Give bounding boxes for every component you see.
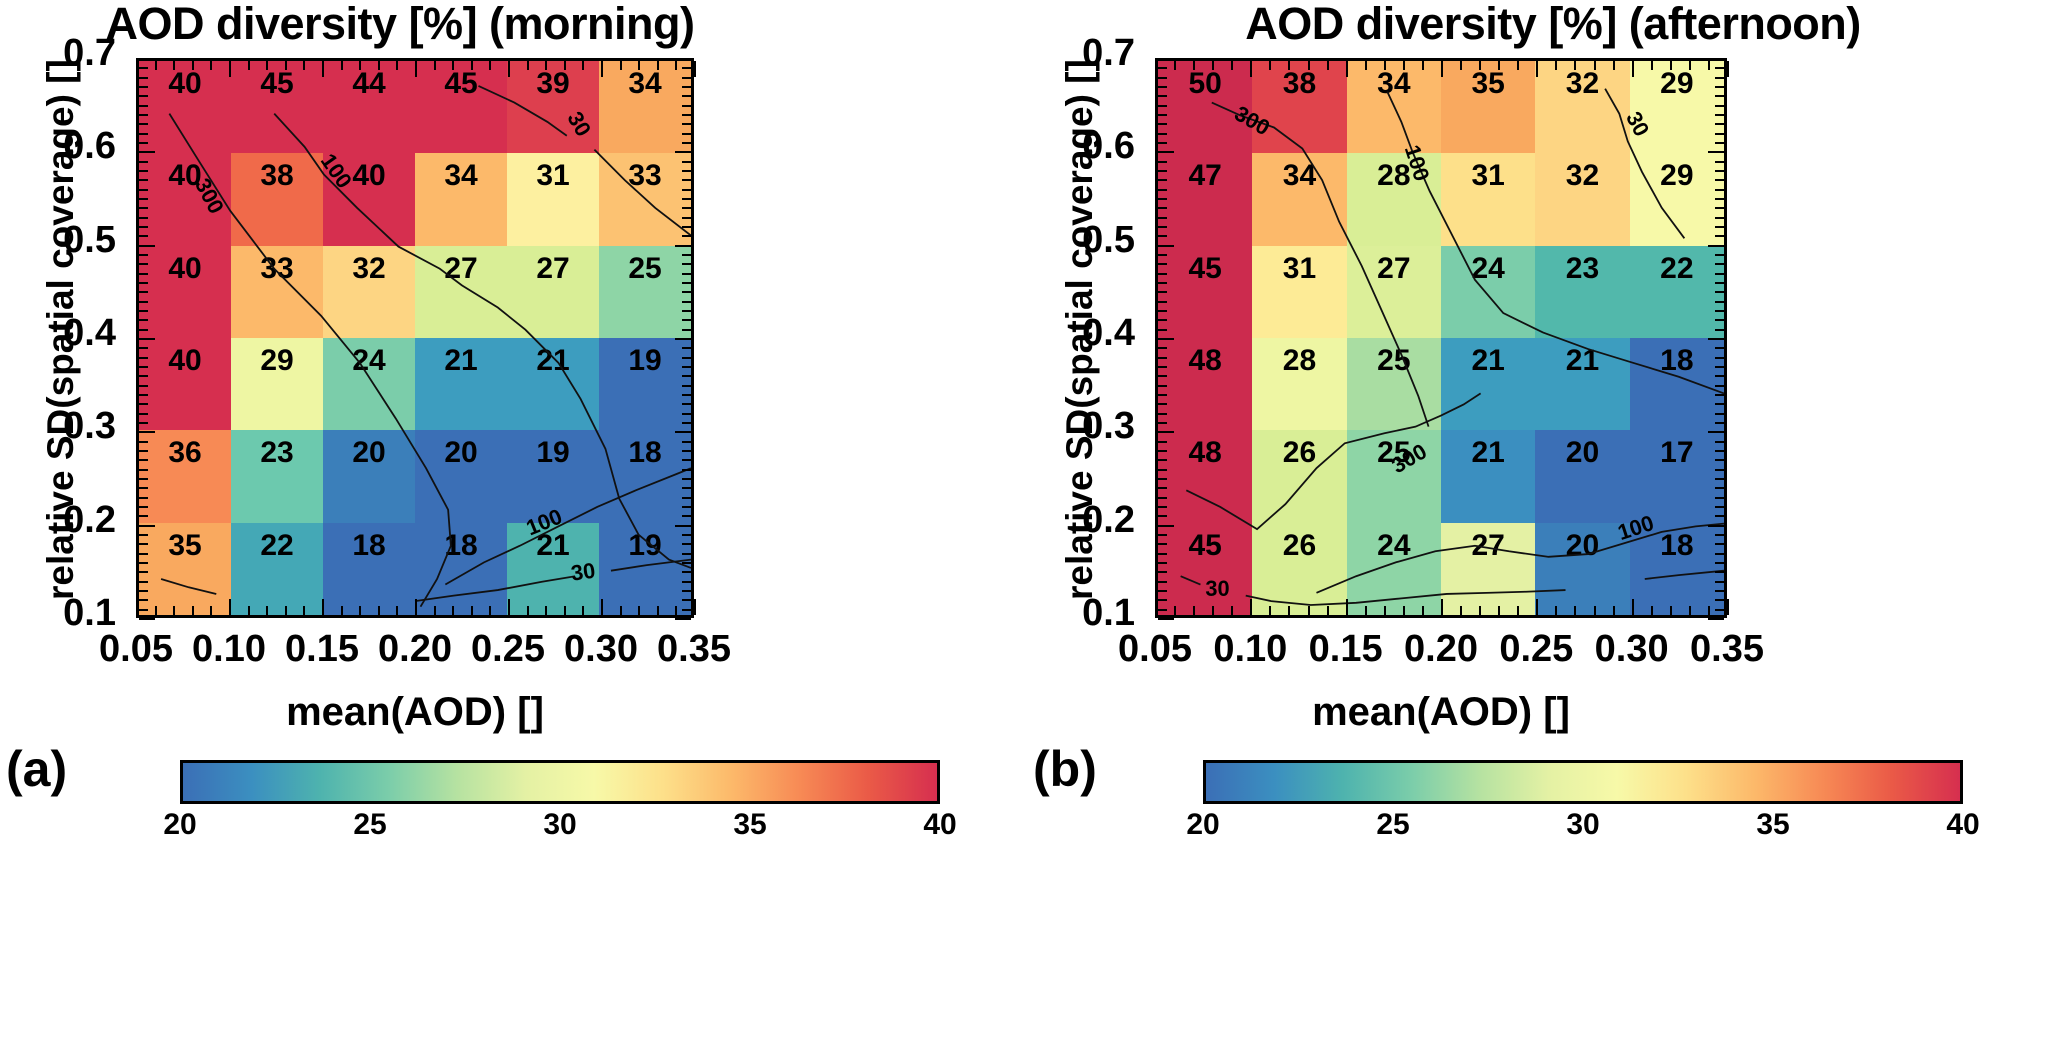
heatmap-cell: 27 xyxy=(415,246,507,338)
x-tickmark xyxy=(229,61,231,77)
heatmap-cell: 48 xyxy=(1158,338,1252,430)
heatmap-cell: 34 xyxy=(415,153,507,245)
heatmap-cell-value: 45 xyxy=(231,67,323,101)
x-tickmark xyxy=(1613,61,1615,70)
y-tickmark xyxy=(139,151,155,153)
y-tickmark xyxy=(682,375,691,377)
heatmap-cell-value: 40 xyxy=(139,159,231,193)
heatmap-cell: 24 xyxy=(1347,523,1441,615)
y-tickmark xyxy=(682,487,691,489)
y-tickmark xyxy=(139,310,148,312)
x-tickmark xyxy=(1193,61,1195,70)
x-tickmark xyxy=(1689,61,1691,70)
heatmap-cell-value: 40 xyxy=(139,344,231,378)
y-tickmark xyxy=(1715,254,1724,256)
x-tickmark xyxy=(1536,599,1538,615)
y-tickmark xyxy=(1715,422,1724,424)
heatmap-cell: 21 xyxy=(1441,338,1535,430)
y-tickmark xyxy=(139,431,155,433)
x-tickmark xyxy=(1651,61,1653,70)
y-tickmark xyxy=(139,590,148,592)
heatmap-cell-value: 23 xyxy=(231,436,323,470)
y-tickmark xyxy=(682,441,691,443)
y-tickmark xyxy=(682,291,691,293)
x-tickmark xyxy=(601,61,603,77)
heatmap-cell: 20 xyxy=(1535,523,1629,615)
y-tickmark xyxy=(1158,58,1174,60)
x-tick-label: 0.30 xyxy=(564,628,638,671)
x-tickmark xyxy=(415,61,417,77)
x-tickmark xyxy=(1403,606,1405,615)
x-tickmark xyxy=(1708,61,1710,70)
heatmap-cell-value: 34 xyxy=(1347,67,1441,101)
x-tick-label: 0.35 xyxy=(1690,628,1764,671)
y-tickmark xyxy=(139,543,148,545)
y-tickmark xyxy=(682,123,691,125)
x-tickmark xyxy=(1212,606,1214,615)
y-tickmark xyxy=(675,245,691,247)
y-tickmark xyxy=(1158,413,1167,415)
y-tickmark xyxy=(1158,581,1167,583)
heatmap-cell-value: 45 xyxy=(415,67,507,101)
x-tickmark xyxy=(694,61,696,77)
y-tickmark xyxy=(682,469,691,471)
heatmap-cell: 48 xyxy=(1158,430,1252,522)
colorbar-tick-label: 30 xyxy=(543,808,576,842)
x-tickmark xyxy=(1384,606,1386,615)
y-tickmark xyxy=(1158,254,1167,256)
y-tickmark xyxy=(682,301,691,303)
y-tickmark xyxy=(1158,189,1167,191)
heatmap-cell-value: 40 xyxy=(139,252,231,286)
y-tickmark xyxy=(139,291,148,293)
x-tickmark xyxy=(471,61,473,70)
y-tickmark xyxy=(1715,301,1724,303)
x-tick-label: 0.05 xyxy=(1118,628,1192,671)
x-tickmark xyxy=(1555,606,1557,615)
y-tickmark xyxy=(682,198,691,200)
x-tickmark xyxy=(359,61,361,70)
y-tickmark xyxy=(682,273,691,275)
heatmap-cell-value: 29 xyxy=(231,344,323,378)
heatmap-cell: 45 xyxy=(415,61,507,153)
y-tickmark xyxy=(1158,366,1167,368)
x-tick-label: 0.10 xyxy=(192,628,266,671)
colorbar-afternoon: 2025303540 xyxy=(1203,760,1963,860)
heatmap-cell-value: 39 xyxy=(507,67,599,101)
heatmap-cell: 32 xyxy=(1535,153,1629,245)
panel-afternoon: AOD diversity [%] (afternoon) 5038343532… xyxy=(1033,0,2067,1043)
heatmap-cell-value: 28 xyxy=(1347,159,1441,193)
x-tickmark xyxy=(1384,61,1386,70)
heatmap-grid-morning: 4045444539344038403431334033322727254029… xyxy=(139,61,691,615)
x-tickmark xyxy=(1365,606,1367,615)
y-tickmark xyxy=(682,77,691,79)
y-tickmark xyxy=(139,319,148,321)
x-tickmark xyxy=(1288,61,1290,70)
y-tickmark xyxy=(1158,534,1167,536)
colorbar-gradient-morning xyxy=(180,760,940,804)
y-tickmark xyxy=(1708,618,1724,620)
x-tickmark xyxy=(508,599,510,615)
panel-letter-a: (a) xyxy=(6,740,67,798)
x-tick-label: 0.15 xyxy=(1309,628,1383,671)
y-tickmark xyxy=(682,366,691,368)
x-tickmark xyxy=(1403,61,1405,70)
y-axis-label-morning: relative SD(spatial coverage) [] xyxy=(40,59,82,600)
y-tickmark xyxy=(139,450,148,452)
heatmap-cell-value: 25 xyxy=(599,252,691,286)
y-tickmark xyxy=(139,338,155,340)
heatmap-cell-value: 22 xyxy=(231,529,323,563)
heatmap-cell-value: 48 xyxy=(1158,436,1252,470)
x-tick-label: 0.25 xyxy=(471,628,545,671)
heatmap-cell: 35 xyxy=(1441,61,1535,153)
heatmap-cell: 26 xyxy=(1252,523,1346,615)
x-tickmark xyxy=(564,606,566,615)
panel-morning: AOD diversity [%] (morning) 404544453934… xyxy=(0,0,1033,1043)
y-tickmark xyxy=(139,357,148,359)
x-tickmark xyxy=(1269,61,1271,70)
heatmap-cell-value: 33 xyxy=(231,252,323,286)
heatmap-cell: 40 xyxy=(323,153,415,245)
y-tickmark xyxy=(1715,77,1724,79)
x-tickmark xyxy=(322,599,324,615)
y-tickmark xyxy=(1715,459,1724,461)
x-tickmark xyxy=(1498,606,1500,615)
y-tickmark xyxy=(139,301,148,303)
y-tickmark xyxy=(682,67,691,69)
y-tickmark xyxy=(682,226,691,228)
x-tickmark xyxy=(545,61,547,70)
x-tickmark xyxy=(173,61,175,70)
heatmap-cell-value: 34 xyxy=(415,159,507,193)
heatmap-cell-value: 21 xyxy=(1441,436,1535,470)
y-tickmark xyxy=(1715,319,1724,321)
y-tickmark xyxy=(682,478,691,480)
x-tickmark xyxy=(582,606,584,615)
y-tickmark xyxy=(682,543,691,545)
x-tickmark xyxy=(1670,61,1672,70)
y-tickmark xyxy=(682,95,691,97)
x-tickmark xyxy=(471,606,473,615)
heatmap-cell: 33 xyxy=(599,153,691,245)
heatmap-cell: 19 xyxy=(599,523,691,615)
y-tickmark xyxy=(1715,123,1724,125)
x-tick-label: 0.25 xyxy=(1499,628,1573,671)
y-tickmark xyxy=(139,235,148,237)
heatmap-cell: 28 xyxy=(1252,338,1346,430)
heatmap-cell: 18 xyxy=(415,523,507,615)
heatmap-cell-value: 27 xyxy=(1347,252,1441,286)
heatmap-plot-afternoon: 5038343532294734283132294531272423224828… xyxy=(1155,58,1727,618)
heatmap-cell: 47 xyxy=(1158,153,1252,245)
x-tickmark xyxy=(1574,61,1576,70)
x-tickmark xyxy=(1346,61,1348,77)
y-tickmark xyxy=(1715,357,1724,359)
x-tickmark xyxy=(545,606,547,615)
y-tickmark xyxy=(139,226,148,228)
y-tickmark xyxy=(682,310,691,312)
y-tickmark xyxy=(139,618,155,620)
y-tickmark xyxy=(682,571,691,573)
heatmap-cell-value: 40 xyxy=(139,67,231,101)
y-tickmark xyxy=(682,133,691,135)
y-tickmark xyxy=(1715,235,1724,237)
heatmap-cell: 25 xyxy=(1347,430,1441,522)
heatmap-cell-value: 21 xyxy=(415,344,507,378)
heatmap-cell-value: 27 xyxy=(415,252,507,286)
heatmap-cell-value: 27 xyxy=(507,252,599,286)
heatmap-cell-value: 18 xyxy=(1630,529,1724,563)
heatmap-cell: 22 xyxy=(231,523,323,615)
heatmap-cell-value: 38 xyxy=(231,159,323,193)
y-tickmark xyxy=(139,329,148,331)
heatmap-cell-value: 17 xyxy=(1630,436,1724,470)
x-tickmark xyxy=(1231,61,1233,70)
y-tickmark xyxy=(139,198,148,200)
x-axis-ticks-morning: 0.050.100.150.200.250.300.35 xyxy=(136,628,694,676)
heatmap-cell-value: 34 xyxy=(599,67,691,101)
y-tickmark xyxy=(139,441,148,443)
y-tickmark xyxy=(682,86,691,88)
heatmap-cell: 17 xyxy=(1630,430,1724,522)
y-tickmark xyxy=(1715,329,1724,331)
colorbar-tick-label: 25 xyxy=(1376,808,1409,842)
y-tickmark xyxy=(1715,497,1724,499)
x-tickmark xyxy=(1346,599,1348,615)
y-tickmark xyxy=(1715,394,1724,396)
y-tickmark xyxy=(682,105,691,107)
y-tickmark xyxy=(682,235,691,237)
x-tickmark xyxy=(1689,606,1691,615)
y-tickmark xyxy=(682,179,691,181)
y-tickmark xyxy=(1715,366,1724,368)
y-tickmark xyxy=(139,170,148,172)
x-tickmark xyxy=(155,61,157,70)
y-tickmark xyxy=(1715,114,1724,116)
heatmap-cell-value: 24 xyxy=(1347,529,1441,563)
x-tickmark xyxy=(1574,606,1576,615)
y-tickmark xyxy=(139,459,148,461)
y-tickmark xyxy=(682,590,691,592)
x-tickmark xyxy=(1308,61,1310,70)
x-axis-label-afternoon: mean(AOD) [] xyxy=(1155,690,1727,735)
y-tickmark xyxy=(682,357,691,359)
y-tickmark xyxy=(1715,291,1724,293)
x-tickmark xyxy=(1517,606,1519,615)
y-tickmark xyxy=(1715,142,1724,144)
x-tickmark xyxy=(1422,606,1424,615)
heatmap-cell: 18 xyxy=(323,523,415,615)
heatmap-cell-value: 40 xyxy=(323,159,415,193)
x-tickmark xyxy=(1365,61,1367,70)
heatmap-cell-value: 18 xyxy=(599,436,691,470)
heatmap-cell: 27 xyxy=(507,246,599,338)
heatmap-cell: 34 xyxy=(1347,61,1441,153)
x-tickmark xyxy=(378,61,380,70)
y-tickmark xyxy=(1715,347,1724,349)
heatmap-cell-value: 45 xyxy=(1158,252,1252,286)
y-tickmark xyxy=(1158,459,1167,461)
y-tickmark xyxy=(1158,161,1167,163)
x-tickmark xyxy=(248,61,250,70)
x-tickmark xyxy=(1441,599,1443,615)
y-tickmark xyxy=(1715,170,1724,172)
colorbar-gradient-afternoon xyxy=(1203,760,1963,804)
y-tickmark xyxy=(675,618,691,620)
x-tickmark xyxy=(341,606,343,615)
y-tickmark xyxy=(1158,506,1167,508)
heatmap-cell: 19 xyxy=(599,338,691,430)
x-tick-label: 0.10 xyxy=(1213,628,1287,671)
y-tickmark xyxy=(139,207,148,209)
y-tickmark xyxy=(139,179,148,181)
y-tickmark xyxy=(1158,179,1167,181)
x-tickmark xyxy=(638,61,640,70)
x-tickmark xyxy=(322,61,324,77)
heatmap-cell: 26 xyxy=(1252,430,1346,522)
heatmap-plot-morning: 4045444539344038403431334033322727254029… xyxy=(136,58,694,618)
x-tickmark xyxy=(155,606,157,615)
y-tickmark xyxy=(139,254,148,256)
x-tick-label: 0.30 xyxy=(1595,628,1669,671)
y-tickmark xyxy=(139,263,148,265)
y-tickmark xyxy=(1715,86,1724,88)
y-tickmark xyxy=(1715,161,1724,163)
heatmap-cell: 18 xyxy=(1630,523,1724,615)
y-tickmark xyxy=(1158,338,1174,340)
x-tickmark xyxy=(1479,61,1481,70)
y-tickmark xyxy=(1158,599,1167,601)
y-tickmark xyxy=(1158,478,1167,480)
x-tickmark xyxy=(1174,606,1176,615)
x-tickmark xyxy=(396,61,398,70)
x-tickmark xyxy=(1327,61,1329,70)
y-tickmark xyxy=(682,413,691,415)
y-tickmark xyxy=(139,497,148,499)
x-tickmark xyxy=(1212,61,1214,70)
panel-b-title: AOD diversity [%] (afternoon) xyxy=(1053,0,2053,50)
panel-a-title: AOD diversity [%] (morning) xyxy=(40,0,760,50)
x-tickmark xyxy=(527,606,529,615)
heatmap-cell: 36 xyxy=(139,430,231,522)
x-tickmark xyxy=(1250,599,1252,615)
y-axis-label-afternoon: relative SD(spatial coverage) [] xyxy=(1059,59,1101,600)
colorbar-tick-label: 20 xyxy=(1186,808,1219,842)
x-tickmark xyxy=(620,61,622,70)
x-tickmark xyxy=(192,61,194,70)
heatmap-cell-value: 26 xyxy=(1252,436,1346,470)
x-tickmark xyxy=(489,61,491,70)
y-tickmark xyxy=(682,581,691,583)
y-tickmark xyxy=(1715,553,1724,555)
y-tickmark xyxy=(682,497,691,499)
x-tickmark xyxy=(1613,606,1615,615)
x-tickmark xyxy=(1460,61,1462,70)
colorbar-tick-label: 35 xyxy=(1756,808,1789,842)
heatmap-cell: 31 xyxy=(1441,153,1535,245)
y-tickmark xyxy=(139,189,148,191)
heatmap-cell: 23 xyxy=(1535,246,1629,338)
y-tickmark xyxy=(1158,403,1167,405)
x-tickmark xyxy=(1594,606,1596,615)
y-tickmark xyxy=(1715,413,1724,415)
heatmap-cell-value: 48 xyxy=(1158,344,1252,378)
y-tickmark xyxy=(1715,105,1724,107)
x-tickmark xyxy=(1594,61,1596,70)
y-tickmark xyxy=(1715,95,1724,97)
heatmap-cell-value: 19 xyxy=(599,344,691,378)
y-tickmark xyxy=(682,562,691,564)
heatmap-cell: 33 xyxy=(231,246,323,338)
y-tickmark xyxy=(1158,198,1167,200)
y-tickmark xyxy=(1708,338,1724,340)
y-tickmark xyxy=(139,77,148,79)
x-tick-label: 0.20 xyxy=(378,628,452,671)
y-tickmark xyxy=(682,161,691,163)
x-tickmark xyxy=(694,599,696,615)
x-tickmark xyxy=(675,61,677,70)
x-axis-ticks-afternoon: 0.050.100.150.200.250.300.35 xyxy=(1155,628,1727,676)
y-tickmark xyxy=(1158,618,1174,620)
y-tickmark xyxy=(1708,245,1724,247)
heatmap-cell-value: 36 xyxy=(139,436,231,470)
y-tickmark xyxy=(1158,235,1167,237)
y-tickmark xyxy=(139,375,148,377)
y-tickmark xyxy=(1715,609,1724,611)
heatmap-cell: 21 xyxy=(1535,338,1629,430)
y-tickmark xyxy=(1715,207,1724,209)
x-tickmark xyxy=(434,606,436,615)
y-tickmark xyxy=(1158,319,1167,321)
y-tickmark xyxy=(1158,357,1167,359)
y-tickmark xyxy=(1158,431,1174,433)
y-tickmark xyxy=(139,58,155,60)
y-tickmark xyxy=(682,403,691,405)
y-tickmark xyxy=(1158,273,1167,275)
y-tickmark xyxy=(1158,525,1174,527)
y-tickmark xyxy=(1708,151,1724,153)
heatmap-cell: 20 xyxy=(415,430,507,522)
y-tickmark xyxy=(1715,571,1724,573)
heatmap-cell-value: 18 xyxy=(323,529,415,563)
y-tickmark xyxy=(139,142,148,144)
x-tickmark xyxy=(1632,599,1634,615)
heatmap-cell-value: 21 xyxy=(507,344,599,378)
heatmap-cell: 18 xyxy=(1630,338,1724,430)
heatmap-cell-value: 25 xyxy=(1347,436,1441,470)
y-tickmark xyxy=(1158,329,1167,331)
x-tickmark xyxy=(285,606,287,615)
heatmap-cell-value: 32 xyxy=(1535,67,1629,101)
x-tickmark xyxy=(1269,606,1271,615)
heatmap-cell-value: 20 xyxy=(323,436,415,470)
y-tickmark xyxy=(1715,385,1724,387)
colorbar-tick-label: 30 xyxy=(1566,808,1599,842)
heatmap-cell: 21 xyxy=(507,338,599,430)
heatmap-cell: 34 xyxy=(1252,153,1346,245)
y-tickmark xyxy=(139,553,148,555)
x-tickmark xyxy=(1193,606,1195,615)
x-tickmark xyxy=(210,61,212,70)
y-tickmark xyxy=(1158,263,1167,265)
heatmap-cell-value: 34 xyxy=(1252,159,1346,193)
y-tickmark xyxy=(1715,599,1724,601)
x-tickmark xyxy=(248,606,250,615)
heatmap-cell-value: 28 xyxy=(1252,344,1346,378)
x-tick-label: 0.05 xyxy=(99,628,173,671)
